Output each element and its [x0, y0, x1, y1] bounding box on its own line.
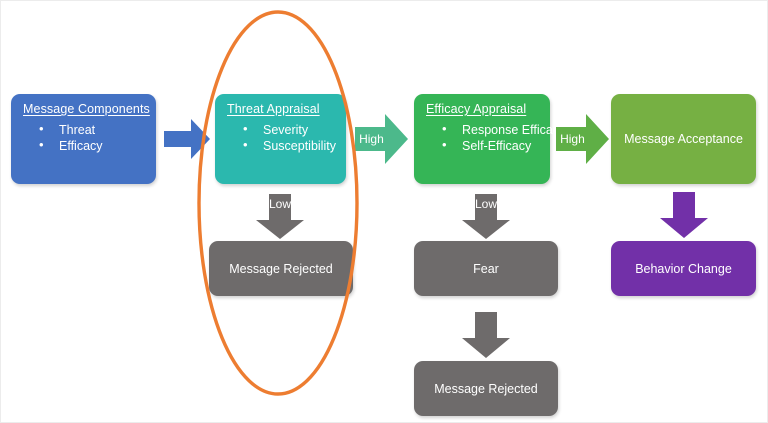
node-behavior-change-label: Behavior Change [611, 241, 756, 296]
node-threat-appraisal-title: Threat Appraisal [227, 102, 320, 116]
arrow-threat-high-icon: High [355, 114, 408, 164]
node-message-rejected-fear-label: Message Rejected [414, 361, 558, 416]
list-item: Efficacy [39, 138, 103, 154]
arrow-efficacy-low-icon: Low [462, 194, 510, 239]
list-item: Response Efficacy [442, 122, 565, 138]
diagram-canvas: Message Components Threat Efficacy Threa… [0, 0, 768, 423]
node-message-rejected-threat-label: Message Rejected [209, 241, 353, 296]
arrow-acceptance-to-behavior-icon [660, 192, 708, 238]
highlight-ellipse [1, 1, 768, 423]
arrow-threat-low-label: Low [256, 197, 304, 211]
arrow-fear-to-rejected-icon [462, 312, 510, 358]
list-item: Severity [243, 122, 336, 138]
node-message-components[interactable]: Message Components Threat Efficacy [11, 94, 156, 184]
arrow-threat-low-icon: Low [256, 194, 304, 239]
node-fear[interactable]: Fear [414, 241, 558, 296]
node-message-rejected-fear[interactable]: Message Rejected [414, 361, 558, 416]
node-fear-label: Fear [414, 241, 558, 296]
node-threat-appraisal[interactable]: Threat Appraisal Severity Susceptibility [215, 94, 346, 184]
node-message-rejected-threat[interactable]: Message Rejected [209, 241, 353, 296]
arrow-efficacy-high-icon: High [556, 114, 609, 164]
node-message-acceptance[interactable]: Message Acceptance [611, 94, 756, 184]
node-threat-appraisal-list: Severity Susceptibility [225, 122, 336, 154]
node-message-acceptance-label: Message Acceptance [611, 94, 756, 184]
node-efficacy-appraisal-list: Response Efficacy Self-Efficacy [424, 122, 565, 154]
node-message-components-list: Threat Efficacy [21, 122, 103, 154]
arrow-components-to-threat-icon [164, 119, 210, 159]
arrow-efficacy-high-label: High [556, 132, 589, 146]
list-item: Susceptibility [243, 138, 336, 154]
node-message-components-title: Message Components [23, 102, 150, 116]
list-item: Threat [39, 122, 103, 138]
node-efficacy-appraisal-title: Efficacy Appraisal [426, 102, 526, 116]
node-behavior-change[interactable]: Behavior Change [611, 241, 756, 296]
list-item: Self-Efficacy [442, 138, 565, 154]
arrow-threat-high-label: High [355, 132, 388, 146]
arrow-efficacy-low-label: Low [462, 197, 510, 211]
node-efficacy-appraisal[interactable]: Efficacy Appraisal Response Efficacy Sel… [414, 94, 550, 184]
